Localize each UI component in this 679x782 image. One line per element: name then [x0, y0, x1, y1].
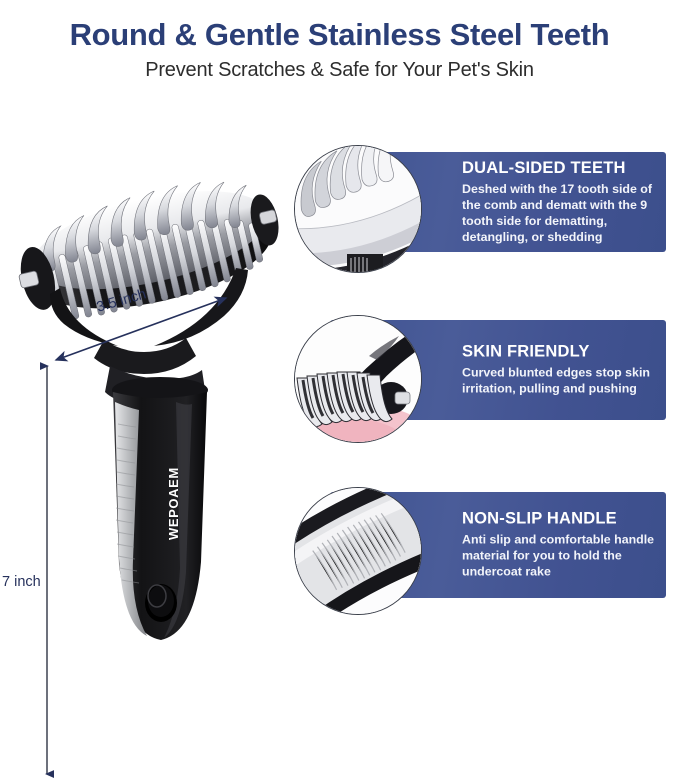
feature-body: Anti slip and comfortable handle materia…	[462, 533, 656, 581]
comb-teeth-closeup-icon	[295, 146, 421, 272]
product-infographic: Round & Gentle Stainless Steel Teeth Pre…	[0, 0, 679, 679]
header: Round & Gentle Stainless Steel Teeth Pre…	[0, 18, 679, 82]
page-subtitle: Prevent Scratches & Safe for Your Pet's …	[0, 59, 679, 82]
product-photo-area: WEPOAEM 3.5 inch	[0, 140, 290, 679]
length-dimension-label: 7 inch	[2, 574, 41, 590]
feature-body: Curved blunted edges stop skin irritatio…	[462, 366, 656, 398]
feature-text-block: SKIN FRIENDLY Curved blunted edges stop …	[462, 343, 656, 398]
feature-text-block: NON-SLIP HANDLE Anti slip and comfortabl…	[462, 510, 656, 581]
brand-logo-text: WEPOAEM	[166, 467, 181, 540]
feature-body: Deshed with the 17 tooth side of the com…	[462, 182, 656, 246]
feature-heading: NON-SLIP HANDLE	[462, 510, 656, 529]
width-dimension-arrow-icon	[48, 292, 238, 372]
feature-image-rake-on-skin	[294, 315, 422, 443]
feature-image-comb-teeth-closeup	[294, 145, 422, 273]
feature-text-block: DUAL-SIDED TEETH Deshed with the 17 toot…	[462, 159, 656, 245]
length-dimension-arrow-icon	[40, 358, 54, 782]
feature-heading: SKIN FRIENDLY	[462, 343, 656, 362]
feature-heading: DUAL-SIDED TEETH	[462, 159, 656, 178]
rake-on-skin-icon	[295, 316, 421, 442]
handle-grip-closeup-icon	[295, 488, 421, 614]
feature-image-handle-grip-closeup	[294, 487, 422, 615]
page-title: Round & Gentle Stainless Steel Teeth	[0, 18, 679, 53]
